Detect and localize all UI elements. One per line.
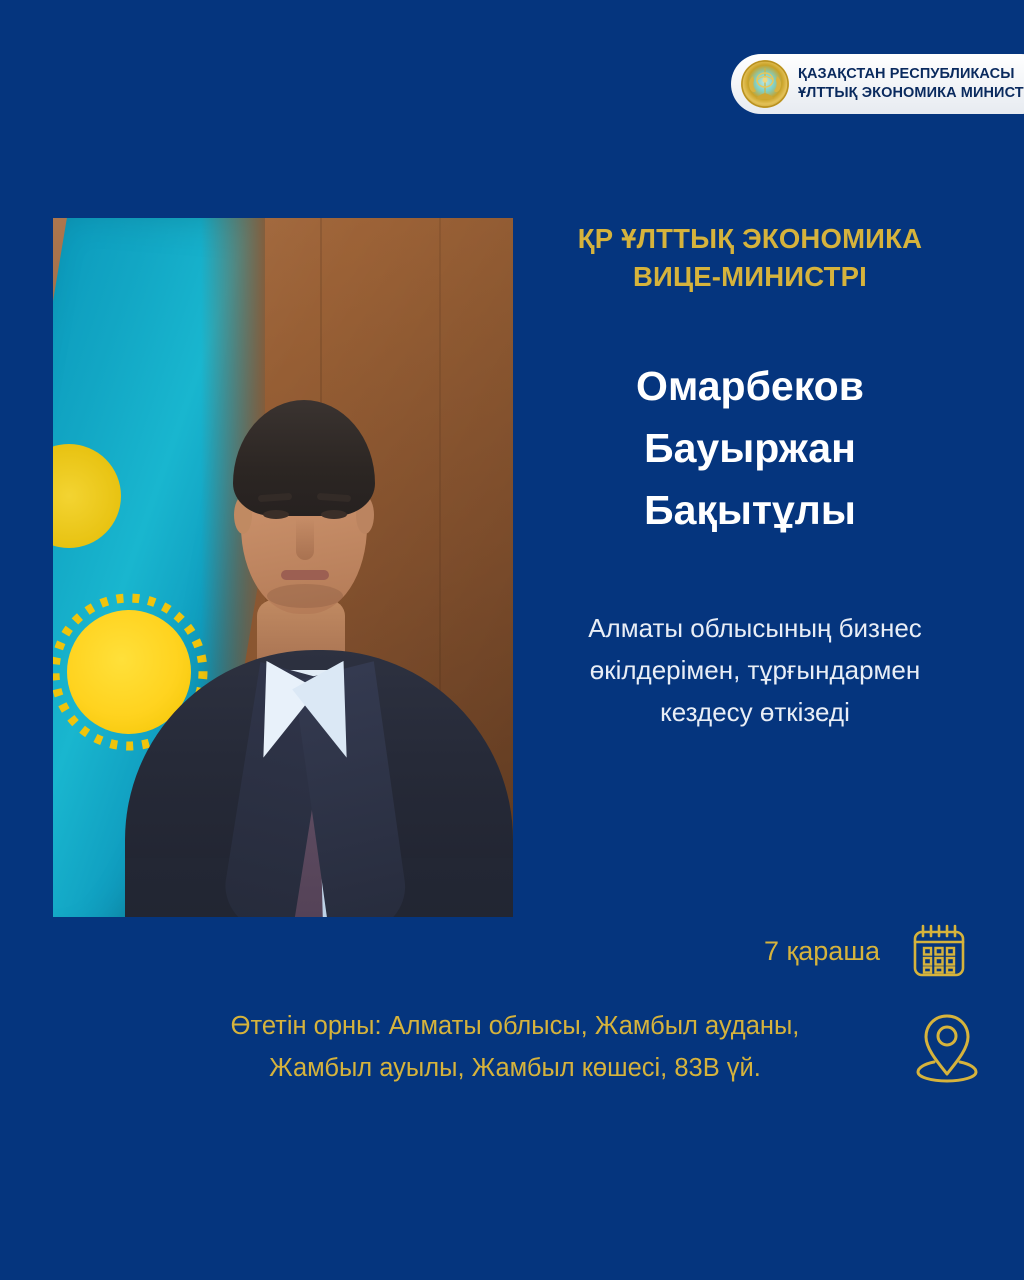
person-figure [53,218,513,917]
event-address-text: Өтетін орны: Алматы облысы, Жамбыл аудан… [140,1005,890,1089]
eye-left [263,510,289,519]
role-title-line2: ВИЦЕ-МИНИСТРІ [520,258,980,296]
event-description-line3: кездесу өткізеді [520,691,990,733]
person-name-surname: Омарбеков [520,355,980,417]
map-pin-icon [914,1008,980,1086]
person-name-given: Бауыржан [520,417,980,479]
hair [233,400,375,516]
kazakhstan-coat-of-arms-icon [741,60,789,108]
chin-shadow [267,584,343,608]
role-title: ҚР ҰЛТТЫҚ ЭКОНОМИКА ВИЦЕ-МИНИСТРІ [520,220,980,296]
event-date-row: 7 қараша [700,918,970,984]
calendar-icon [908,920,970,982]
ministry-logo-badge: ҚАЗАҚСТАН РЕСПУБЛИКАСЫ ҰЛТТЫҚ ЭКОНОМИКА … [731,54,1024,114]
event-description-line1: Алматы облысының бизнес [520,607,990,649]
event-date-text: 7 қараша [764,935,880,967]
event-description-line2: өкілдерімен, тұрғындармен [520,649,990,691]
portrait-photo [53,218,513,917]
event-address-line1: Өтетін орны: Алматы облысы, Жамбыл аудан… [140,1005,890,1047]
mouth [281,570,329,580]
ministry-logo-text: ҚАЗАҚСТАН РЕСПУБЛИКАСЫ ҰЛТТЫҚ ЭКОНОМИКА … [798,65,1024,103]
announcement-poster: ҚАЗАҚСТАН РЕСПУБЛИКАСЫ ҰЛТТЫҚ ЭКОНОМИКА … [0,0,1024,1280]
ministry-logo-line1: ҚАЗАҚСТАН РЕСПУБЛИКАСЫ [798,65,1024,84]
person-name-patronymic: Бақытұлы [520,479,980,541]
ministry-logo-line2: ҰЛТТЫҚ ЭКОНОМИКА МИНИСТРЛІГІ [798,84,1024,103]
eye-right [321,510,347,519]
role-title-line1: ҚР ҰЛТТЫҚ ЭКОНОМИКА [520,220,980,258]
event-address-line2: Жамбыл ауылы, Жамбыл көшесі, 83В үй. [140,1047,890,1089]
event-description: Алматы облысының бизнес өкілдерімен, тұр… [520,607,990,733]
event-address-row: Өтетін орны: Алматы облысы, Жамбыл аудан… [140,1005,980,1089]
person-name: Омарбеков Бауыржан Бақытұлы [520,355,980,541]
nose [296,518,314,560]
